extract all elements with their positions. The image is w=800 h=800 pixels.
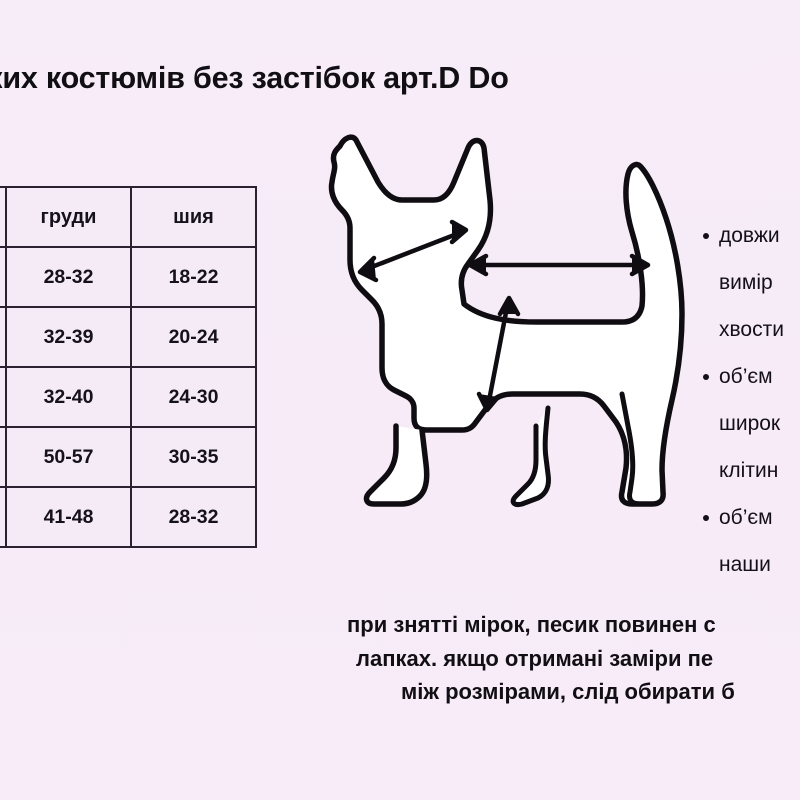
table-header-cell-neck: шия — [131, 187, 256, 247]
bullet-line: об’єм — [719, 365, 773, 388]
page-title: егких костюмів без застібок арт.D Do — [0, 58, 800, 98]
table-cell-chest: 41-48 — [6, 487, 131, 547]
dog-front-leg-path — [367, 426, 427, 504]
table-cell-chest: 32-39 — [6, 307, 131, 367]
bullet-line: клітин — [719, 459, 778, 482]
table-cell-neck: 20-24 — [131, 307, 256, 367]
table-cell-chest: 28-32 — [6, 247, 131, 307]
dog-illustration — [322, 108, 722, 528]
table-row: 28-32 18-22 — [0, 247, 256, 307]
measurement-note: при знятті мірок, песик повинен с лапках… — [347, 608, 800, 709]
bullet-line: довжи — [719, 224, 780, 247]
note-line: лапках. якщо отримані заміри пе — [356, 642, 800, 676]
list-item: об’єм наши — [719, 494, 800, 588]
size-table: а груди шия 28-32 18-22 32-39 20-24 32-4… — [0, 186, 257, 548]
table-header-row: а груди шия — [0, 187, 256, 247]
bullet-line: вимір — [719, 271, 773, 294]
table-cell-neck: 24-30 — [131, 367, 256, 427]
measurement-instructions-list: довжи вимір хвости об’єм широк клітин об… — [697, 212, 800, 588]
dog-second-front-leg-path — [513, 408, 548, 505]
bullet-line: хвости — [719, 318, 784, 341]
list-item: довжи вимір хвости — [719, 212, 800, 353]
table-header-cell-chest: груди — [6, 187, 131, 247]
note-line: при знятті мірок, песик повинен с — [347, 608, 800, 642]
table-cell-chest: 32-40 — [6, 367, 131, 427]
bullet-line: об’єм — [719, 506, 773, 529]
list-item: об’єм широк клітин — [719, 353, 800, 494]
table-cell-chest: 50-57 — [6, 427, 131, 487]
size-chart-page: егких костюмів без застібок арт.D Do а г… — [0, 0, 800, 800]
table-cell-neck: 18-22 — [131, 247, 256, 307]
bullet-line: наши — [719, 553, 771, 576]
table-row: 32-39 20-24 — [0, 307, 256, 367]
table-row: 50-57 30-35 — [0, 427, 256, 487]
dog-body-outline — [331, 137, 682, 504]
table-cell-neck: 30-35 — [131, 427, 256, 487]
table-cell-neck: 28-32 — [131, 487, 256, 547]
back-length-measurement-arrow — [470, 256, 648, 274]
bullet-line: широк — [719, 412, 780, 435]
table-row: 41-48 28-32 — [0, 487, 256, 547]
table-row: 32-40 24-30 — [0, 367, 256, 427]
note-line: між розмірами, слід обирати б — [401, 675, 800, 709]
